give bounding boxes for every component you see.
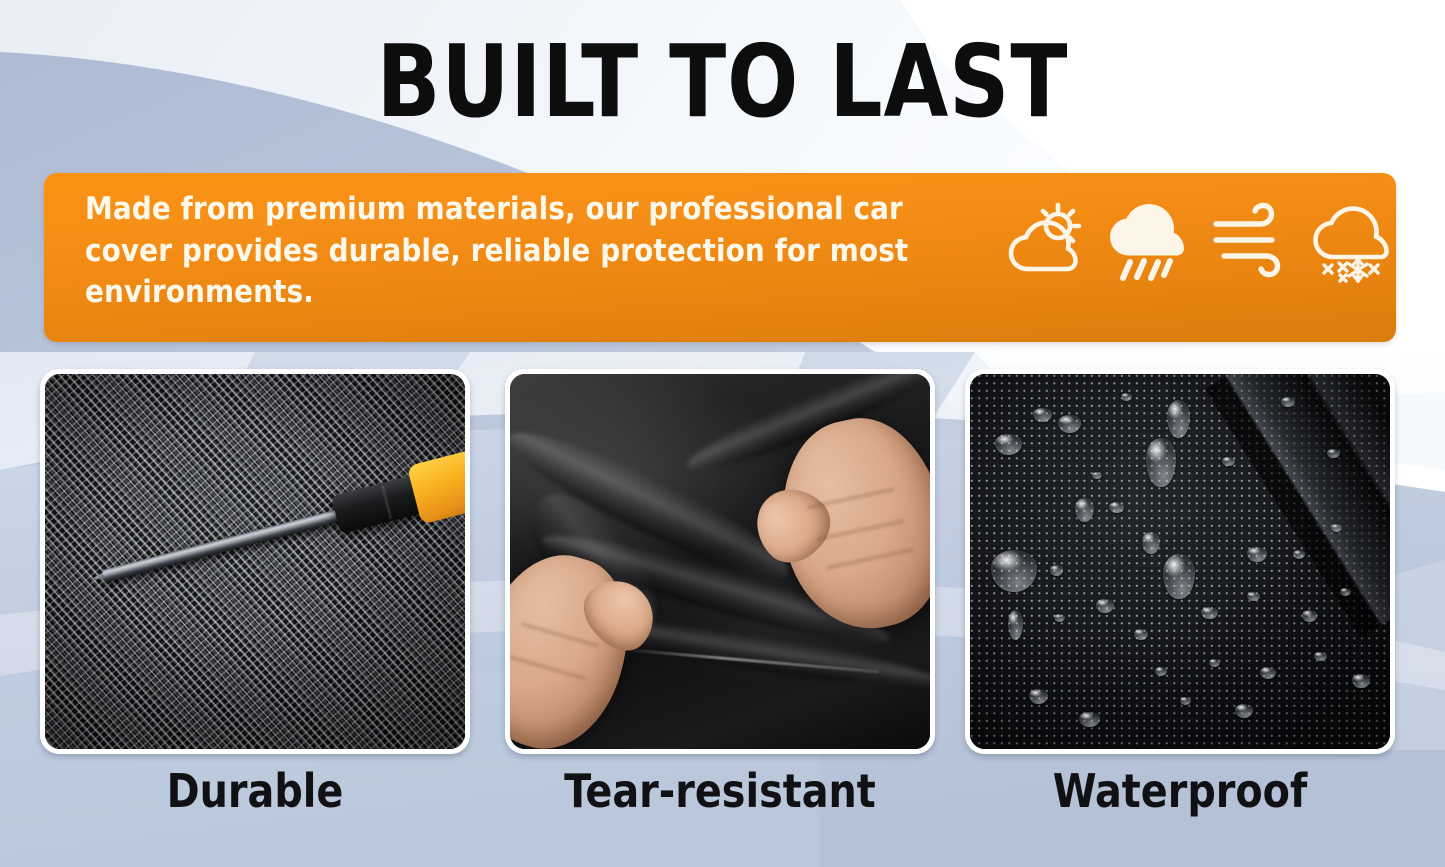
caption-durable: Durable (49, 762, 462, 820)
description-banner: Made from premium materials, our profess… (44, 173, 1396, 342)
water-beading-photo (970, 374, 1390, 749)
caption-tear-resistant: Tear-resistant (514, 762, 927, 820)
feature-caption-row: Durable Tear-resistant Waterproof (0, 762, 1445, 832)
fabric-screwdriver-photo (45, 374, 465, 749)
snow-cloud-icon (1312, 199, 1390, 285)
feature-card-row (0, 369, 1445, 759)
rain-cloud-icon (1108, 199, 1186, 285)
page-title: BUILT TO LAST (51, 30, 1395, 134)
feature-card-waterproof[interactable] (965, 369, 1395, 754)
hands-stretching-material-photo (510, 374, 930, 749)
weather-icon-group (1006, 199, 1396, 319)
wind-icon (1210, 199, 1288, 285)
marketing-banner: BUILT TO LAST Made from premium material… (0, 0, 1445, 867)
caption-waterproof: Waterproof (974, 762, 1387, 820)
banner-description-text: Made from premium materials, our profess… (85, 189, 965, 314)
partly-cloudy-icon (1006, 199, 1084, 285)
feature-card-tear-resistant[interactable] (505, 369, 935, 754)
feature-card-durable[interactable] (40, 369, 470, 754)
